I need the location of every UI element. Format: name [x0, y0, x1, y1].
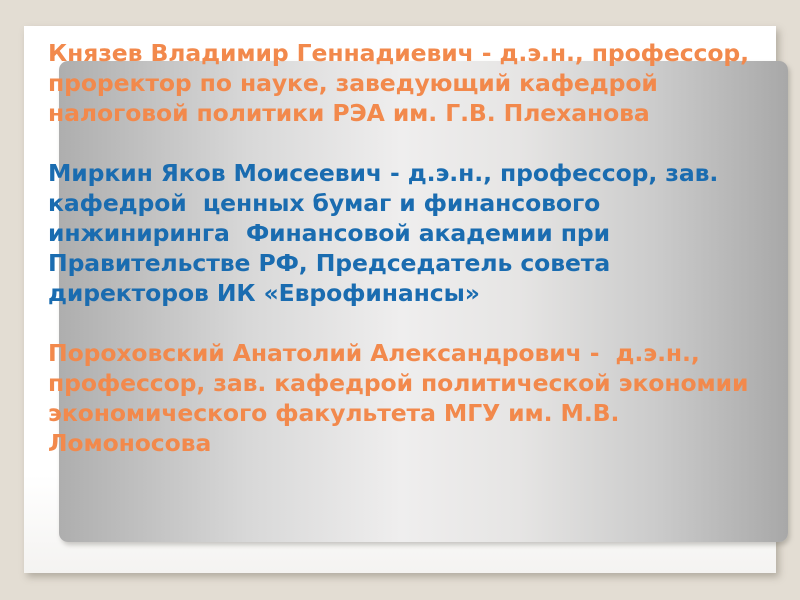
- paragraph-spacer-1: [48, 128, 760, 158]
- paragraph-porokhovskiy: Пороховский Анатолий Александрович - д.э…: [48, 338, 760, 458]
- slide-root: Князев Владимир Геннадиевич - д.э.н., пр…: [0, 0, 800, 600]
- paragraph-spacer-2: [48, 308, 760, 338]
- paragraph-knyazev: Князев Владимир Геннадиевич - д.э.н., пр…: [48, 38, 760, 128]
- paragraph-mirkin: Миркин Яков Моисеевич - д.э.н., профессо…: [48, 158, 760, 308]
- slide-text-body: Князев Владимир Геннадиевич - д.э.н., пр…: [48, 38, 760, 458]
